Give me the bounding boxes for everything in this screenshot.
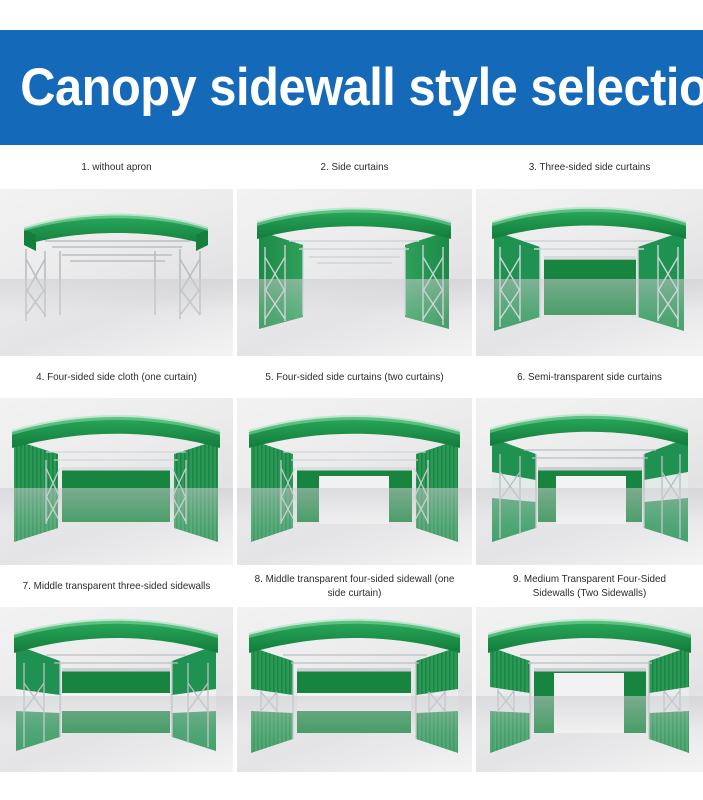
- header-banner: Canopy sidewall style selection: [0, 30, 703, 145]
- style-caption: 4. Four-sided side cloth (one curtain): [7, 356, 226, 398]
- style-caption: 1. without apron: [7, 145, 226, 189]
- tent-illustration-two-sides: [237, 189, 472, 356]
- page-title: Canopy sidewall style selection: [0, 57, 703, 118]
- style-grid: 1. without apron: [0, 145, 703, 772]
- style-cell-2[interactable]: 2. Side curtains: [237, 145, 472, 356]
- style-image-1: [0, 189, 233, 356]
- style-image-4: [0, 398, 233, 565]
- tent-illustration-semi-transparent: [476, 398, 703, 565]
- tent-illustration-three-sided: [476, 189, 703, 356]
- tent-illustration-four-sided-two: [237, 398, 472, 565]
- style-image-7: [0, 607, 233, 772]
- tent-illustration-four-sided-one: [0, 398, 233, 565]
- poster-page: Canopy sidewall style selection 1. witho…: [0, 0, 703, 800]
- style-cell-6[interactable]: 6. Semi-transparent side curtains: [476, 356, 703, 565]
- style-cell-7[interactable]: 7. Middle transparent three-sided sidewa…: [0, 565, 233, 772]
- tent-illustration-mid-transparent-four-one: [237, 607, 472, 772]
- style-caption: 9. Medium Transparent Four-Sided Sidewal…: [483, 565, 696, 607]
- style-image-5: [237, 398, 472, 565]
- style-cell-4[interactable]: 4. Four-sided side cloth (one curtain): [0, 356, 233, 565]
- style-image-9: [476, 607, 703, 772]
- tent-illustration-mid-transparent-three: [0, 607, 233, 772]
- style-caption: 8. Middle transparent four-sided sidewal…: [244, 565, 465, 607]
- style-image-2: [237, 189, 472, 356]
- style-caption: 5. Four-sided side curtains (two curtain…: [244, 356, 465, 398]
- tent-illustration-mid-transparent-four-two: [476, 607, 703, 772]
- style-cell-9[interactable]: 9. Medium Transparent Four-Sided Sidewal…: [476, 565, 703, 772]
- style-cell-1[interactable]: 1. without apron: [0, 145, 233, 356]
- style-caption: 3. Three-sided side curtains: [483, 145, 696, 189]
- style-cell-5[interactable]: 5. Four-sided side curtains (two curtain…: [237, 356, 472, 565]
- style-image-8: [237, 607, 472, 772]
- style-image-3: [476, 189, 703, 356]
- grid-row: 7. Middle transparent three-sided sidewa…: [0, 565, 703, 772]
- style-caption: 7. Middle transparent three-sided sidewa…: [7, 565, 226, 607]
- tent-illustration-no-walls: [0, 189, 233, 356]
- style-image-6: [476, 398, 703, 565]
- style-cell-8[interactable]: 8. Middle transparent four-sided sidewal…: [237, 565, 472, 772]
- style-caption: 2. Side curtains: [244, 145, 465, 189]
- grid-row: 4. Four-sided side cloth (one curtain): [0, 356, 703, 565]
- grid-row: 1. without apron: [0, 145, 703, 356]
- style-caption: 6. Semi-transparent side curtains: [483, 356, 696, 398]
- style-cell-3[interactable]: 3. Three-sided side curtains: [476, 145, 703, 356]
